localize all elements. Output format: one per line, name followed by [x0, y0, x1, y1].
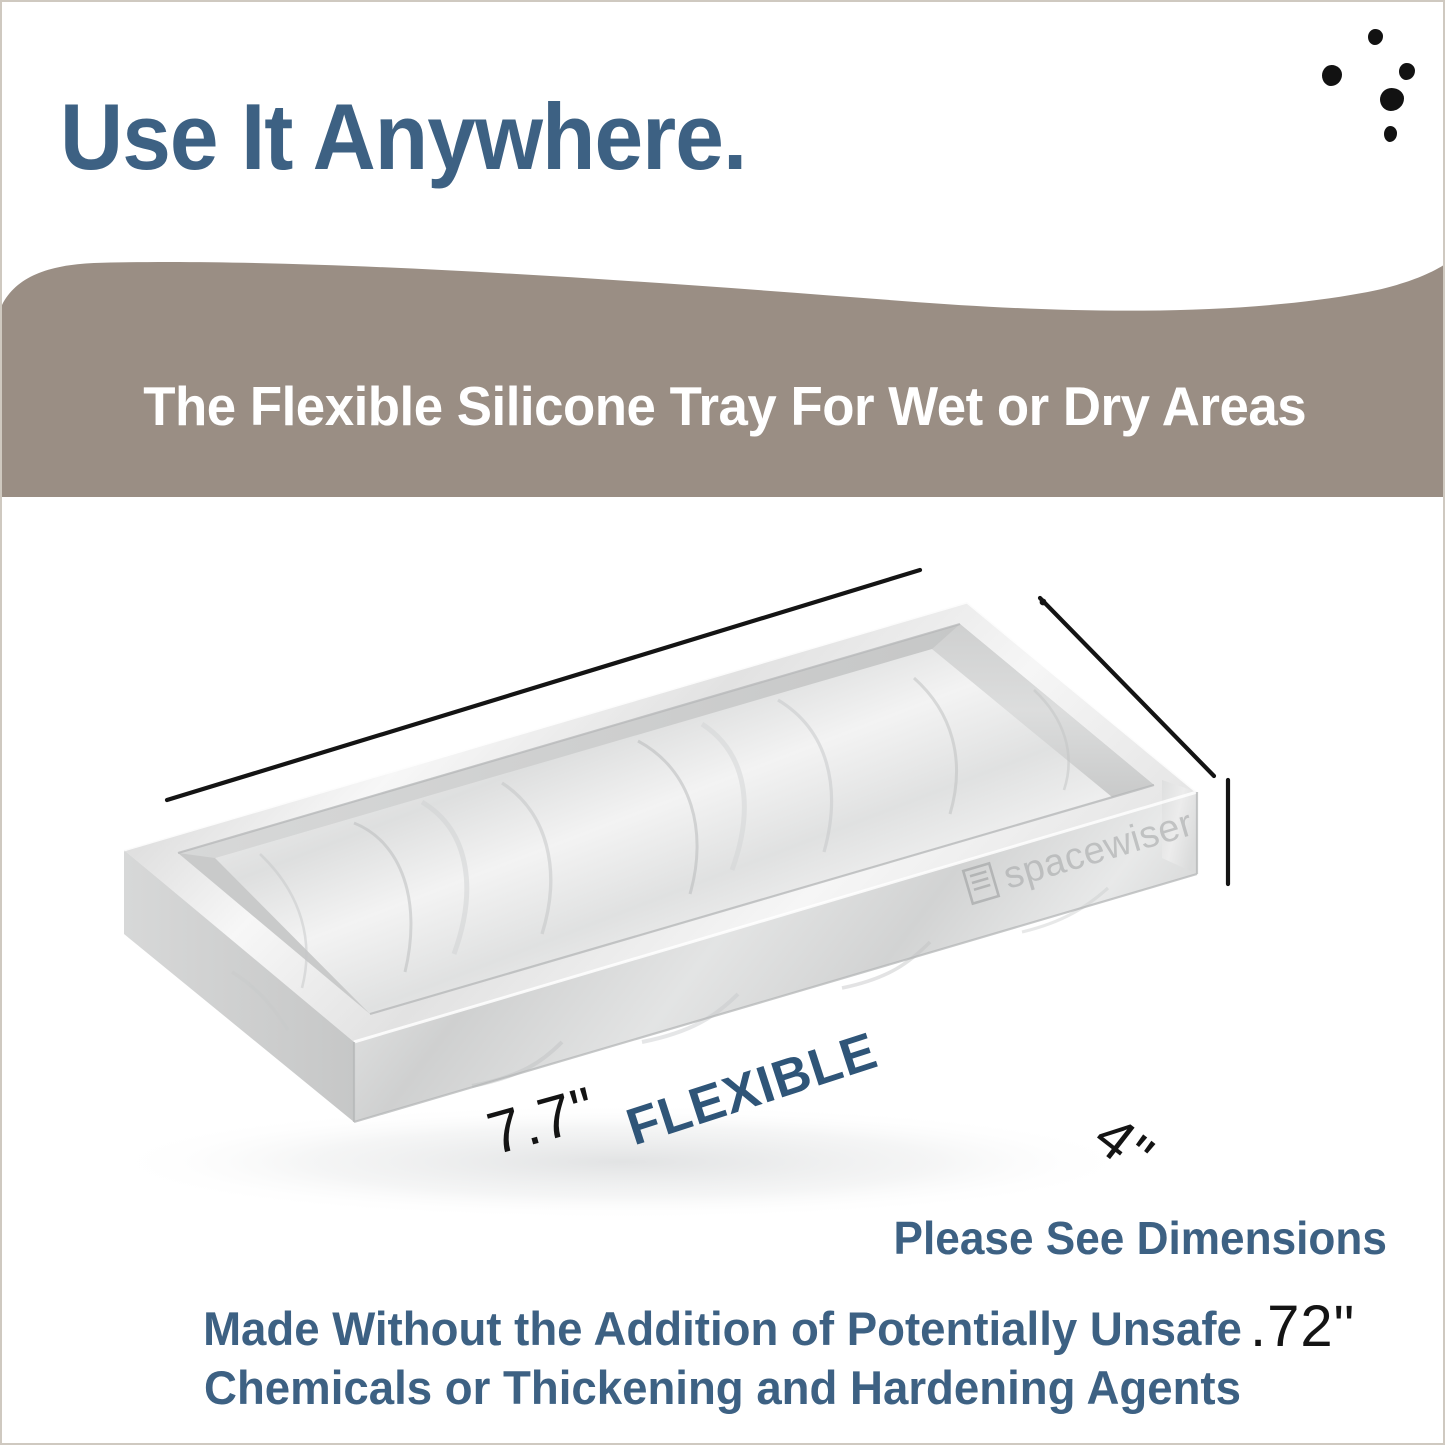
banner-subtitle: The Flexible Silicone Tray For Wet or Dr… [143, 374, 1306, 438]
see-dimensions-note: Please See Dimensions [894, 1211, 1387, 1265]
decorative-dot [1399, 63, 1415, 80]
decorative-dot [1368, 29, 1383, 45]
tray-shadow [102, 1104, 1142, 1220]
decorative-dot [1380, 88, 1404, 111]
page-title: Use It Anywhere. [60, 90, 746, 184]
safety-claim: Made Without the Addition of Potentially… [2, 1299, 1443, 1417]
width-dimension-tick [1040, 599, 1047, 606]
decorative-dot [1322, 65, 1342, 86]
product-infographic: Use It Anywhere. The Flexible Silicone T… [0, 0, 1445, 1445]
safety-claim-line-1: Made Without the Addition of Potentially… [24, 1299, 1422, 1358]
safety-claim-line-2: Chemicals or Thickening and Hardening Ag… [24, 1358, 1422, 1417]
decorative-dots-cluster [1282, 22, 1445, 187]
product-scene: spacewiser 7.7" 4" .72" [2, 502, 1445, 1262]
banner-text-wrap: The Flexible Silicone Tray For Wet or Dr… [2, 257, 1445, 497]
decorative-dot [1384, 126, 1397, 142]
subtitle-banner: The Flexible Silicone Tray For Wet or Dr… [2, 257, 1445, 497]
